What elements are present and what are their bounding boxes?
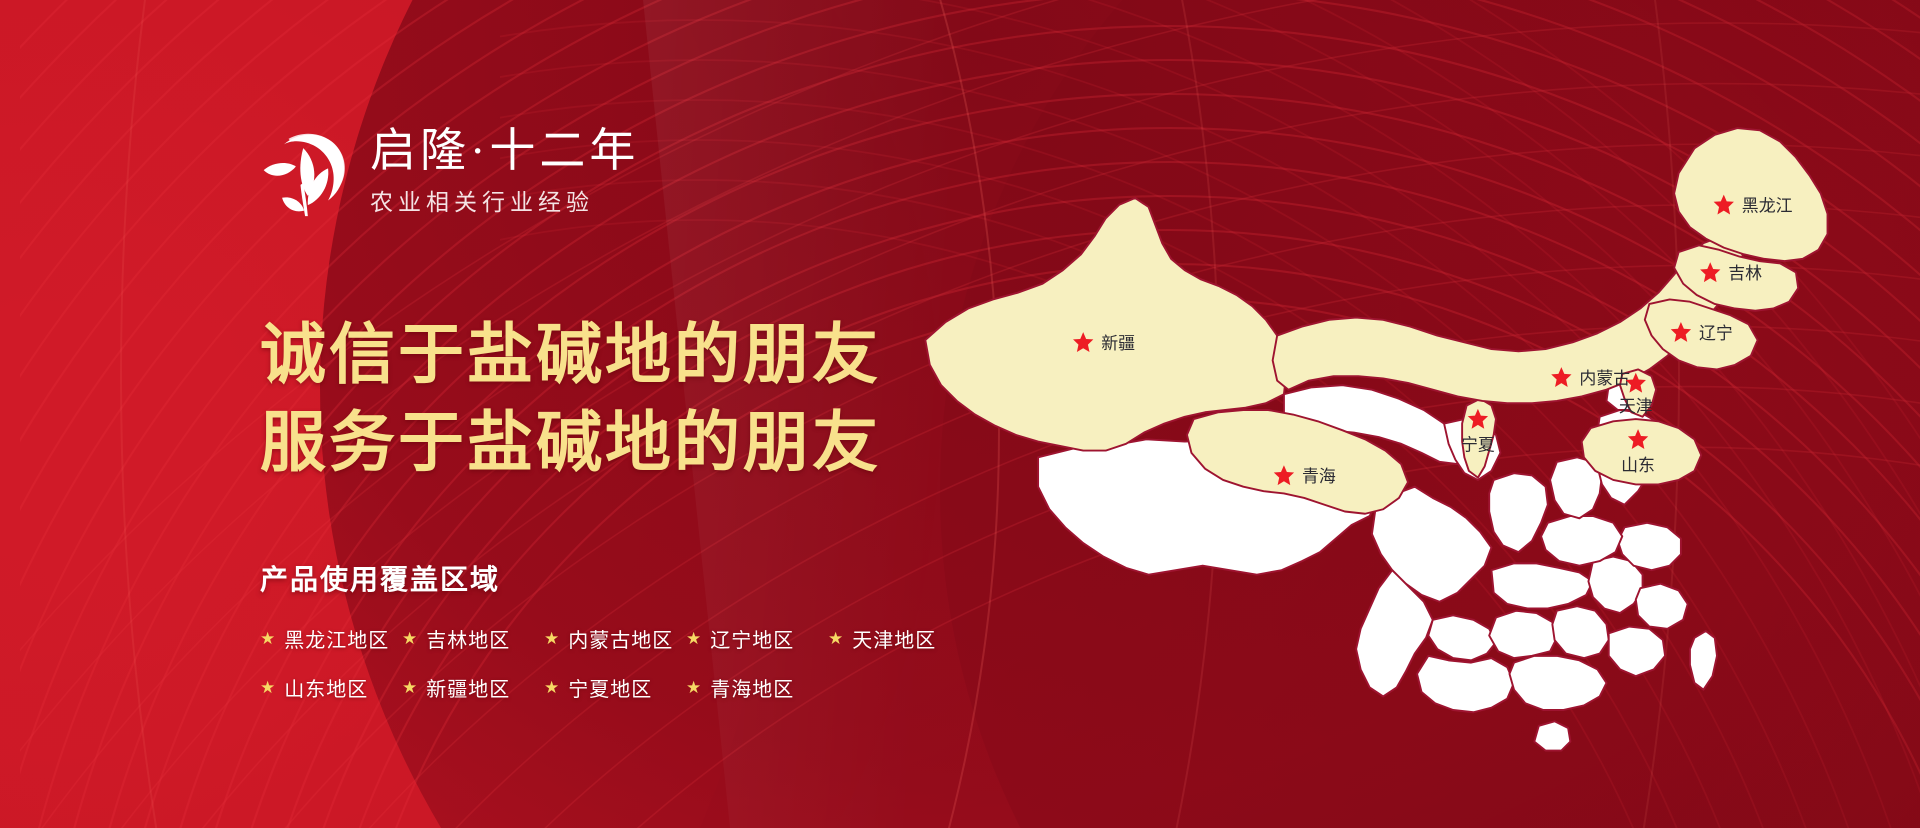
list-item: ★ 青海地区 <box>686 673 828 702</box>
province-guizhou <box>1428 615 1496 660</box>
list-item-label: 辽宁地区 <box>710 624 794 653</box>
list-item: ★ 新疆地区 <box>402 673 544 702</box>
banner-stage: 启隆·十二年 农业相关行业经验 诚信于盐碱地的朋友 服务于盐碱地的朋友 产品使用… <box>0 0 1920 828</box>
star-icon: ★ <box>260 630 275 647</box>
map-label: 新疆 <box>1101 334 1135 353</box>
leaf-circle-icon <box>260 124 352 220</box>
brand-lockup: 启隆·十二年 农业相关行业经验 <box>260 124 639 220</box>
china-map: 黑龙江 吉林 辽宁 内蒙古 天津 <box>905 60 1920 760</box>
map-label: 辽宁 <box>1699 324 1733 343</box>
province-guangxi <box>1417 656 1514 712</box>
list-item-label: 宁夏地区 <box>568 673 652 702</box>
map-label: 青海 <box>1302 467 1336 486</box>
list-item-label: 黑龙江地区 <box>284 624 389 653</box>
star-icon: ★ <box>402 630 417 647</box>
list-item-label: 吉林地区 <box>426 624 510 653</box>
map-label: 黑龙江 <box>1742 197 1793 216</box>
province-zhejiang <box>1636 584 1688 629</box>
list-item: ★ 山东地区 <box>260 673 402 702</box>
headline-line-2: 服务于盐碱地的朋友 <box>260 400 881 488</box>
map-label: 山东 <box>1621 456 1655 475</box>
province-shaanxi <box>1489 473 1548 552</box>
province-taiwan <box>1690 631 1717 690</box>
star-icon: ★ <box>544 679 559 696</box>
map-label: 宁夏 <box>1461 436 1495 455</box>
province-hubei <box>1491 563 1593 608</box>
coverage-block: 产品使用覆盖区域 ★ 黑龙江地区 ★ 吉林地区 ★ 内蒙古地区 ★ 辽宁地区 <box>260 558 970 702</box>
coverage-region-grid: ★ 黑龙江地区 ★ 吉林地区 ★ 内蒙古地区 ★ 辽宁地区 ★ 天津地区 <box>260 624 970 702</box>
star-icon: ★ <box>686 679 701 696</box>
star-icon: ★ <box>402 679 417 696</box>
list-item: ★ 吉林地区 <box>402 624 544 653</box>
list-item-label: 新疆地区 <box>426 673 510 702</box>
list-item: ★ 内蒙古地区 <box>544 624 686 653</box>
star-icon: ★ <box>828 630 843 647</box>
headline-block: 诚信于盐碱地的朋友 服务于盐碱地的朋友 <box>260 312 881 488</box>
province-jiangxi <box>1552 606 1608 658</box>
province-fujian <box>1609 627 1665 677</box>
brand-text: 启隆·十二年 农业相关行业经验 <box>370 127 639 218</box>
list-item-label: 山东地区 <box>284 673 368 702</box>
headline-line-1: 诚信于盐碱地的朋友 <box>260 312 881 400</box>
star-icon: ★ <box>544 630 559 647</box>
map-label: 吉林 <box>1728 264 1762 283</box>
list-item: ★ 宁夏地区 <box>544 673 686 702</box>
list-item-label: 青海地区 <box>710 673 794 702</box>
map-label: 内蒙古 <box>1579 369 1630 388</box>
star-icon: ★ <box>260 679 275 696</box>
brand-name: 启隆·十二年 <box>370 127 639 176</box>
province-hainan <box>1534 721 1570 750</box>
coverage-title: 产品使用覆盖区域 <box>260 558 970 598</box>
map-label: 天津 <box>1619 397 1653 416</box>
list-item: ★ 辽宁地区 <box>686 624 828 653</box>
list-item-label: 内蒙古地区 <box>568 624 673 653</box>
brand-subtitle: 农业相关行业经验 <box>370 183 639 217</box>
province-hunan <box>1489 611 1557 658</box>
list-item: ★ 黑龙江地区 <box>260 624 402 653</box>
province-heilongjiang <box>1674 128 1827 261</box>
star-icon: ★ <box>686 630 701 647</box>
province-guangdong <box>1509 656 1606 710</box>
